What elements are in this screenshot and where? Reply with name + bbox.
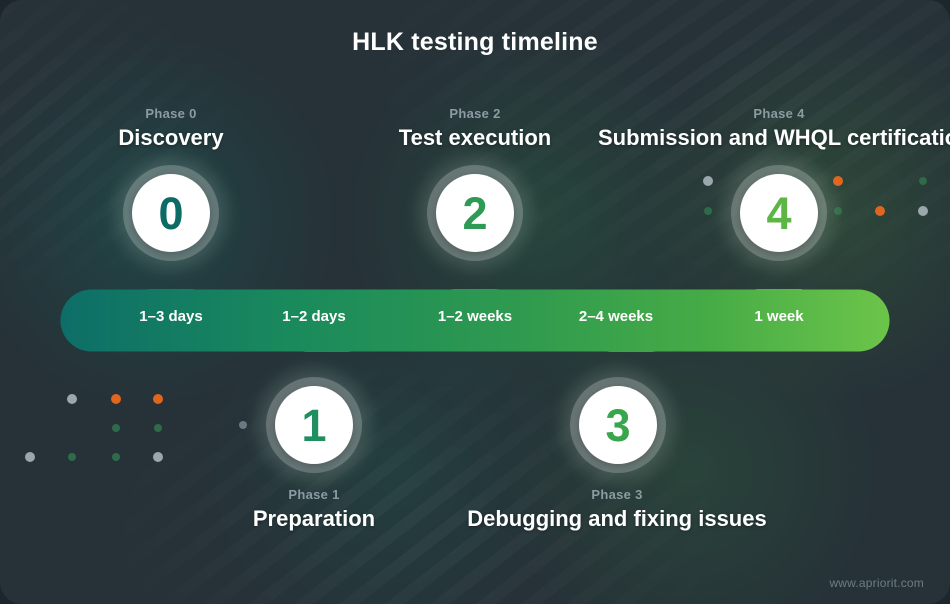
decorative-dot [919,177,927,185]
node-number: 4 [766,191,791,236]
watermark: www.apriorit.com [829,576,924,590]
decorative-dot [153,394,163,404]
duration-label-4: 1 week [694,308,864,325]
decorative-dot [704,207,712,215]
phase-kicker: Phase 1 [189,487,439,502]
decorative-dot [154,424,162,432]
phase-kicker: Phase 2 [350,106,600,121]
decorative-dot [703,176,713,186]
phase-label-3: Phase 3 Debugging and fixing issues [436,487,798,532]
phase-kicker: Phase 4 [598,106,950,121]
infographic-canvas: HLK testing timeline Phase 0 Discovery P… [0,0,950,604]
node-number: 2 [462,191,487,236]
phase-title: Submission and WHQL certification [598,125,950,151]
background-glow [330,30,750,410]
node-number: 3 [605,403,630,448]
decorative-dot [67,394,77,404]
phase-kicker: Phase 0 [46,106,296,121]
duration-label-3: 2–4 weeks [531,308,701,325]
phase-label-4: Phase 4 Submission and WHQL certificatio… [598,106,950,151]
phase-title: Discovery [46,125,296,151]
decorative-dot [112,453,120,461]
phase-title: Test execution [350,125,600,151]
decorative-dot [918,206,928,216]
phase-title: Preparation [189,506,439,532]
phase-node-0[interactable]: 0 [123,165,219,261]
decorative-dot [25,452,35,462]
phase-node-4[interactable]: 4 [731,165,827,261]
node-disc: 3 [579,386,657,464]
phase-label-0: Phase 0 Discovery [46,106,296,151]
phase-label-1: Phase 1 Preparation [189,487,439,532]
phase-kicker: Phase 3 [436,487,798,502]
page-title: HLK testing timeline [0,28,950,57]
decorative-dot [153,452,163,462]
node-disc: 2 [436,174,514,252]
phase-label-2: Phase 2 Test execution [350,106,600,151]
duration-label-1: 1–2 days [229,308,399,325]
node-disc: 0 [132,174,210,252]
node-number: 0 [158,191,183,236]
phase-node-1[interactable]: 1 [266,377,362,473]
node-disc: 4 [740,174,818,252]
decorative-dot [111,394,121,404]
node-number: 1 [301,403,326,448]
phase-node-3[interactable]: 3 [570,377,666,473]
decorative-dot [112,424,120,432]
decorative-dot [875,206,885,216]
decorative-dot [239,421,247,429]
decorative-dot [68,453,76,461]
node-disc: 1 [275,386,353,464]
phase-node-2[interactable]: 2 [427,165,523,261]
phase-title: Debugging and fixing issues [436,506,798,532]
